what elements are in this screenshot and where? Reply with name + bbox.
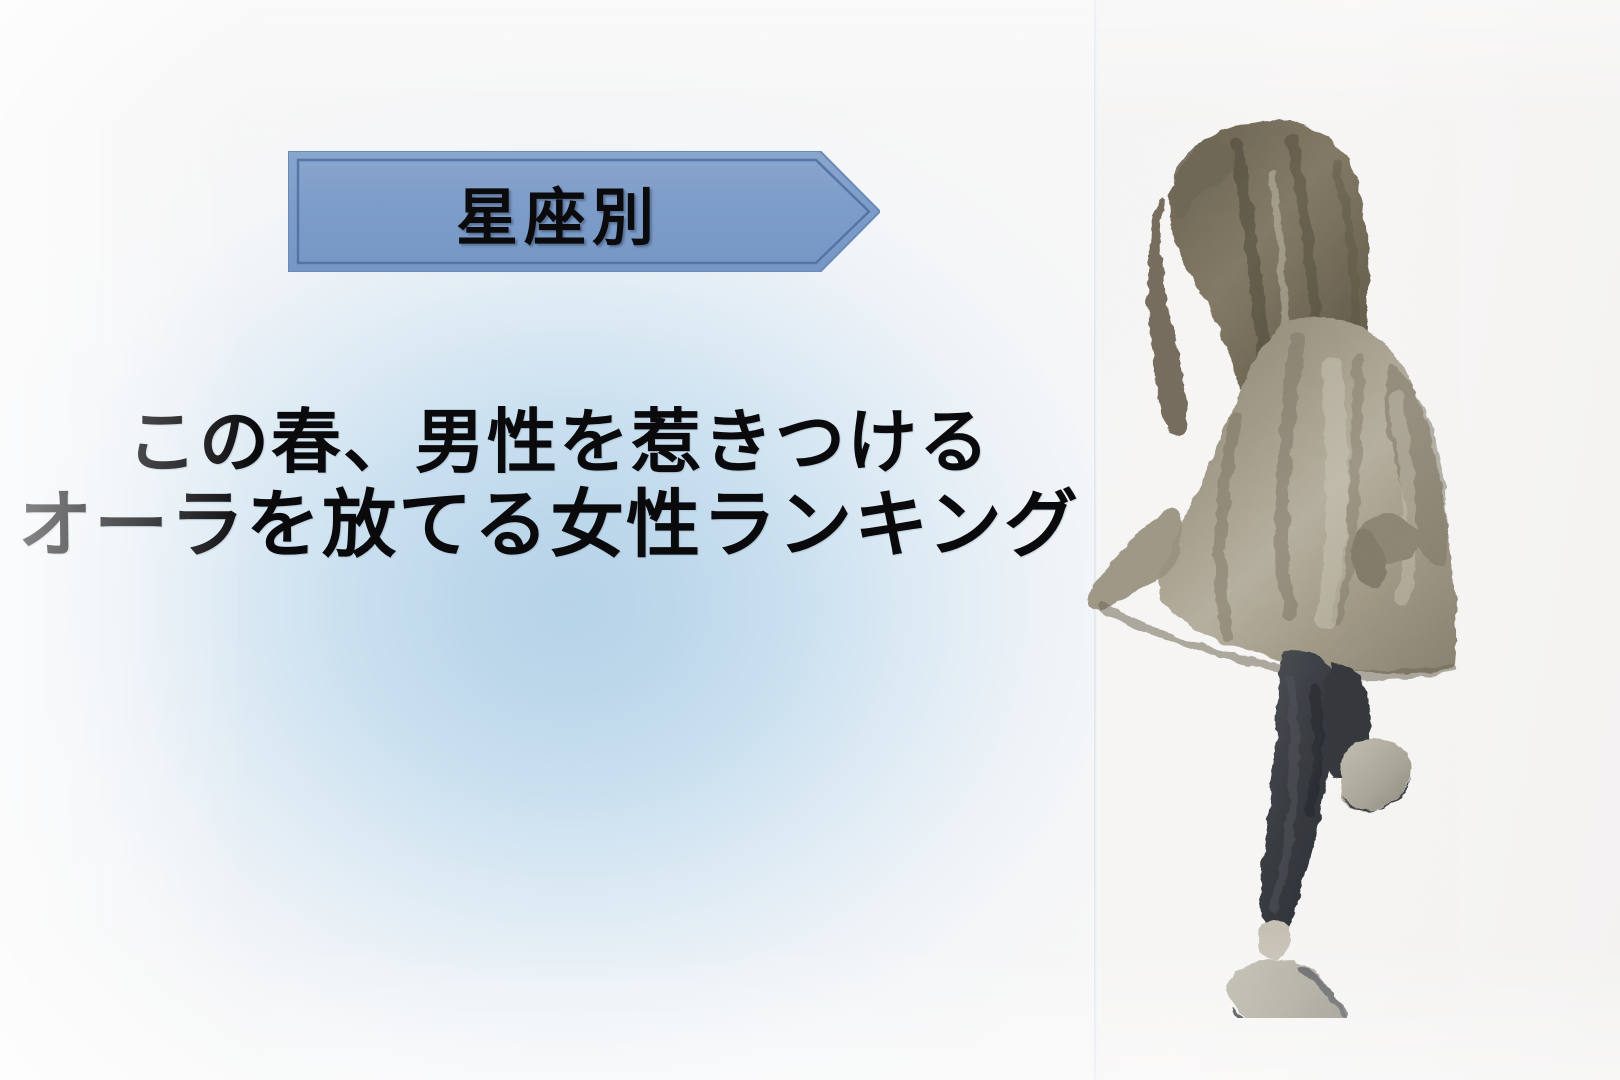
woman-watercolor-svg [1040,78,1510,1018]
category-banner: 星座別 [288,151,880,272]
paper-grain-overlay [1100,118,1460,1018]
banner-label: 星座別 [288,151,828,272]
headline-line-2: オーラを放てる女性ランキング [0,484,1096,568]
woman-illustration [1040,78,1510,1018]
headline-line-1: この春、男性を惹きつける [0,404,1096,484]
headline: この春、男性を惹きつける オーラを放てる女性ランキング [0,404,1096,568]
poster-canvas: 星座別 この春、男性を惹きつける オーラを放てる女性ランキング [0,0,1620,1080]
